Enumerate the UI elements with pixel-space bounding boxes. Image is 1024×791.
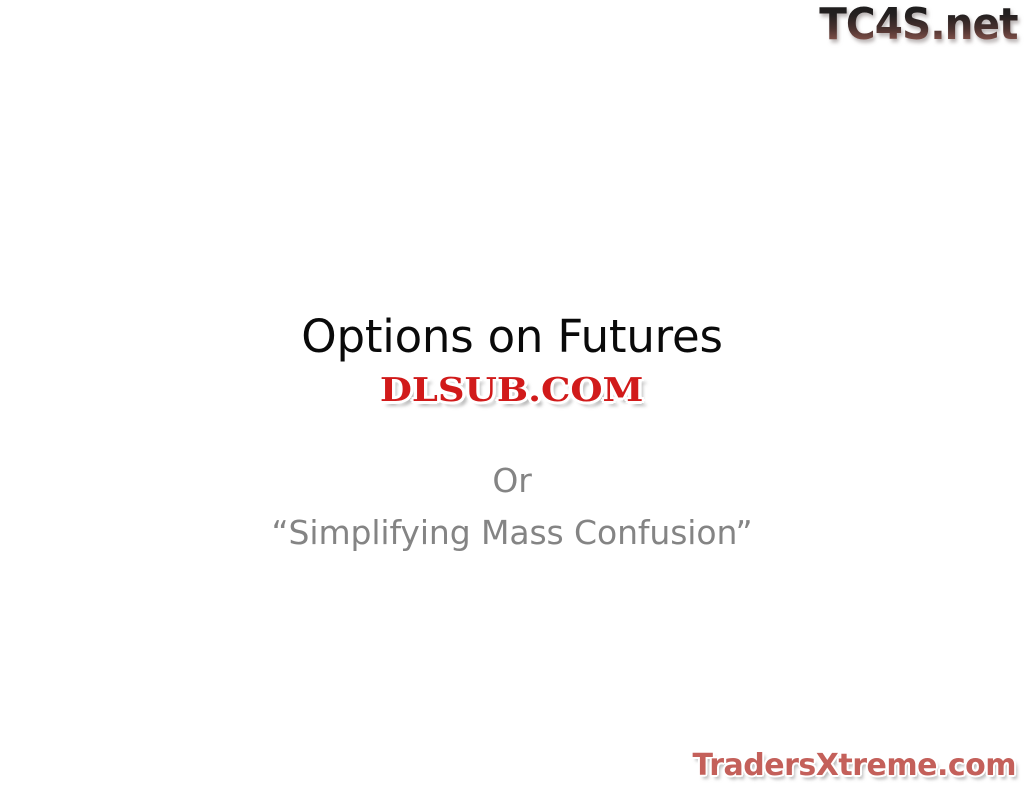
subtitle-block: Or “Simplifying Mass Confusion” xyxy=(0,455,1024,559)
tc4s-watermark: TC4S.net xyxy=(820,2,1018,48)
dlsub-watermark-container: DLSUB.COM xyxy=(0,370,1024,410)
presentation-slide: TC4S.net Options on Futures DLSUB.COM Or… xyxy=(0,0,1024,791)
title-block: Options on Futures xyxy=(0,309,1024,365)
page-title: Options on Futures xyxy=(0,309,1024,365)
tradersxtreme-watermark: TradersXtreme.com xyxy=(693,747,1016,785)
dlsub-watermark: DLSUB.COM xyxy=(380,370,644,410)
subtitle-line-1: Or xyxy=(0,455,1024,507)
subtitle-line-2: “Simplifying Mass Confusion” xyxy=(0,507,1024,559)
